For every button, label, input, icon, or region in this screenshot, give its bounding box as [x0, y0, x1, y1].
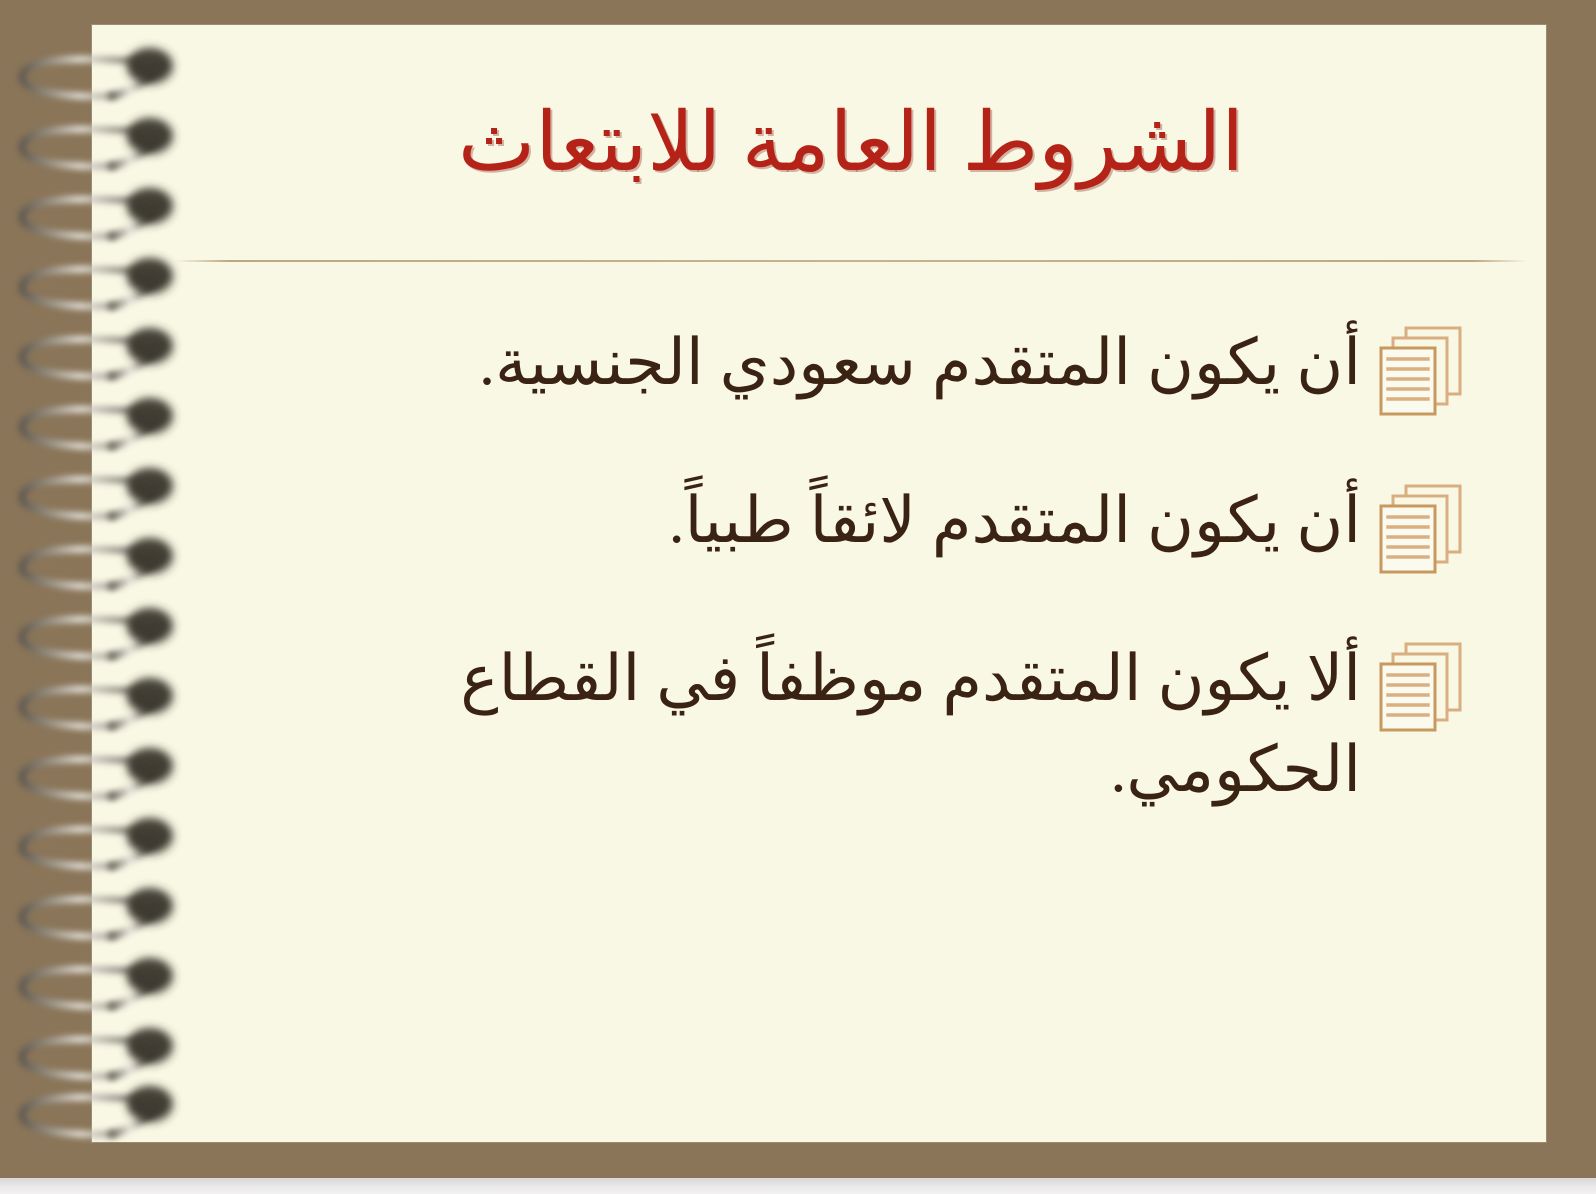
bullet-list: أن يكون المتقدم سعودي الجنسية. — [285, 318, 1465, 816]
presentation-slide: الشروط العامة للابتعاث — [0, 0, 1596, 1194]
page-title: الشروط العامة للابتعاث — [458, 99, 1244, 188]
bullet-text: ألا يكون المتقدم موظفاً في القطاع الحكوم… — [351, 634, 1361, 816]
title-divider — [175, 260, 1527, 262]
document-stack-icon — [1379, 324, 1465, 418]
list-item: أن يكون المتقدم سعودي الجنسية. — [285, 318, 1465, 414]
document-stack-icon — [1379, 640, 1465, 734]
document-stack-icon — [1379, 482, 1465, 576]
slide-title-area: الشروط العامة للابتعاث — [175, 48, 1527, 238]
list-item: أن يكون المتقدم لائقاً طبياً. — [285, 476, 1465, 572]
bullet-text: أن يكون المتقدم سعودي الجنسية. — [285, 318, 1361, 409]
list-item: ألا يكون المتقدم موظفاً في القطاع الحكوم… — [285, 634, 1465, 816]
slide-bottom-shadow — [0, 1178, 1596, 1194]
bullet-text: أن يكون المتقدم لائقاً طبياً. — [285, 476, 1361, 567]
